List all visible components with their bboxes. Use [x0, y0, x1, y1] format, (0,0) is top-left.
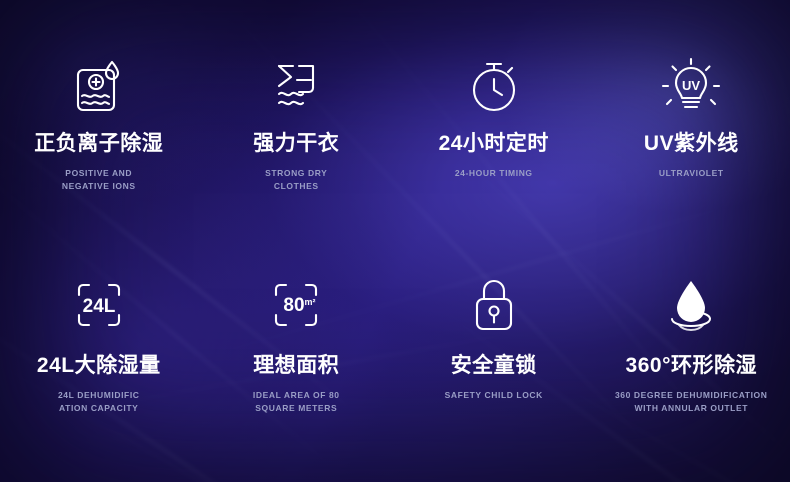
feature-subtitle: IDEAL AREA OF 80SQUARE METERS — [253, 389, 340, 415]
ion-dehumidify-icon — [64, 56, 134, 118]
feature-title: 理想面积 — [253, 354, 339, 377]
strong-dry-clothes-icon — [263, 56, 329, 118]
feature-title: 安全童锁 — [451, 354, 537, 377]
timer-24h-icon — [463, 56, 525, 118]
feature-subtitle: ULTRAVIOLET — [659, 167, 724, 180]
feature-item-strong-dry-clothes: 强力干衣 STRONG DRYCLOTHES — [198, 0, 396, 242]
feature-title: 24L大除湿量 — [37, 354, 161, 377]
svg-text:24L: 24L — [82, 296, 115, 317]
feature-grid: 正负离子除湿 POSITIVE ANDNEGATIVE IONS 强力干衣 ST… — [0, 0, 790, 482]
feature-subtitle: 360 DEGREE DEHUMIDIFICATIONWITH ANNULAR … — [615, 389, 768, 415]
svg-text:80: 80 — [284, 295, 305, 316]
svg-text:m²: m² — [305, 297, 316, 307]
child-lock-icon — [465, 272, 523, 338]
area-80sqm-icon: 80 m² — [264, 272, 328, 338]
feature-item-24h-timer: 24小时定时 24-HOUR TIMING — [395, 0, 593, 242]
feature-title: 360°环形除湿 — [626, 354, 757, 377]
feature-item-ideal-area: 80 m² 理想面积 IDEAL AREA OF 80SQUARE METERS — [198, 242, 396, 482]
feature-subtitle: STRONG DRYCLOTHES — [265, 167, 327, 193]
feature-item-ion-dehumidify: 正负离子除湿 POSITIVE ANDNEGATIVE IONS — [0, 0, 198, 242]
capacity-24l-icon: 24L — [67, 272, 131, 338]
uv-lamp-icon: UV — [658, 56, 724, 118]
feature-item-uv: UV UV紫外线 ULTRAVIOLET — [593, 0, 790, 242]
feature-item-360-dehumidify: 360°环形除湿 360 DEGREE DEHUMIDIFICATIONWITH… — [593, 242, 790, 482]
feature-subtitle: POSITIVE ANDNEGATIVE IONS — [62, 167, 136, 193]
svg-text:UV: UV — [682, 78, 700, 93]
water-drop-360-icon — [658, 272, 724, 338]
feature-subtitle: 24L DEHUMIDIFICATION CAPACITY — [58, 389, 140, 415]
feature-item-24l-capacity: 24L 24L大除湿量 24L DEHUMIDIFICATION CAPACIT… — [0, 242, 198, 482]
feature-subtitle: SAFETY CHILD LOCK — [445, 389, 543, 402]
feature-subtitle: 24-HOUR TIMING — [455, 167, 533, 180]
feature-item-child-lock: 安全童锁 SAFETY CHILD LOCK — [395, 242, 593, 482]
feature-banner: 正负离子除湿 POSITIVE ANDNEGATIVE IONS 强力干衣 ST… — [0, 0, 790, 482]
feature-title: 24小时定时 — [439, 132, 549, 155]
feature-title: 正负离子除湿 — [34, 132, 163, 155]
feature-title: 强力干衣 — [253, 132, 339, 155]
feature-title: UV紫外线 — [644, 132, 739, 155]
